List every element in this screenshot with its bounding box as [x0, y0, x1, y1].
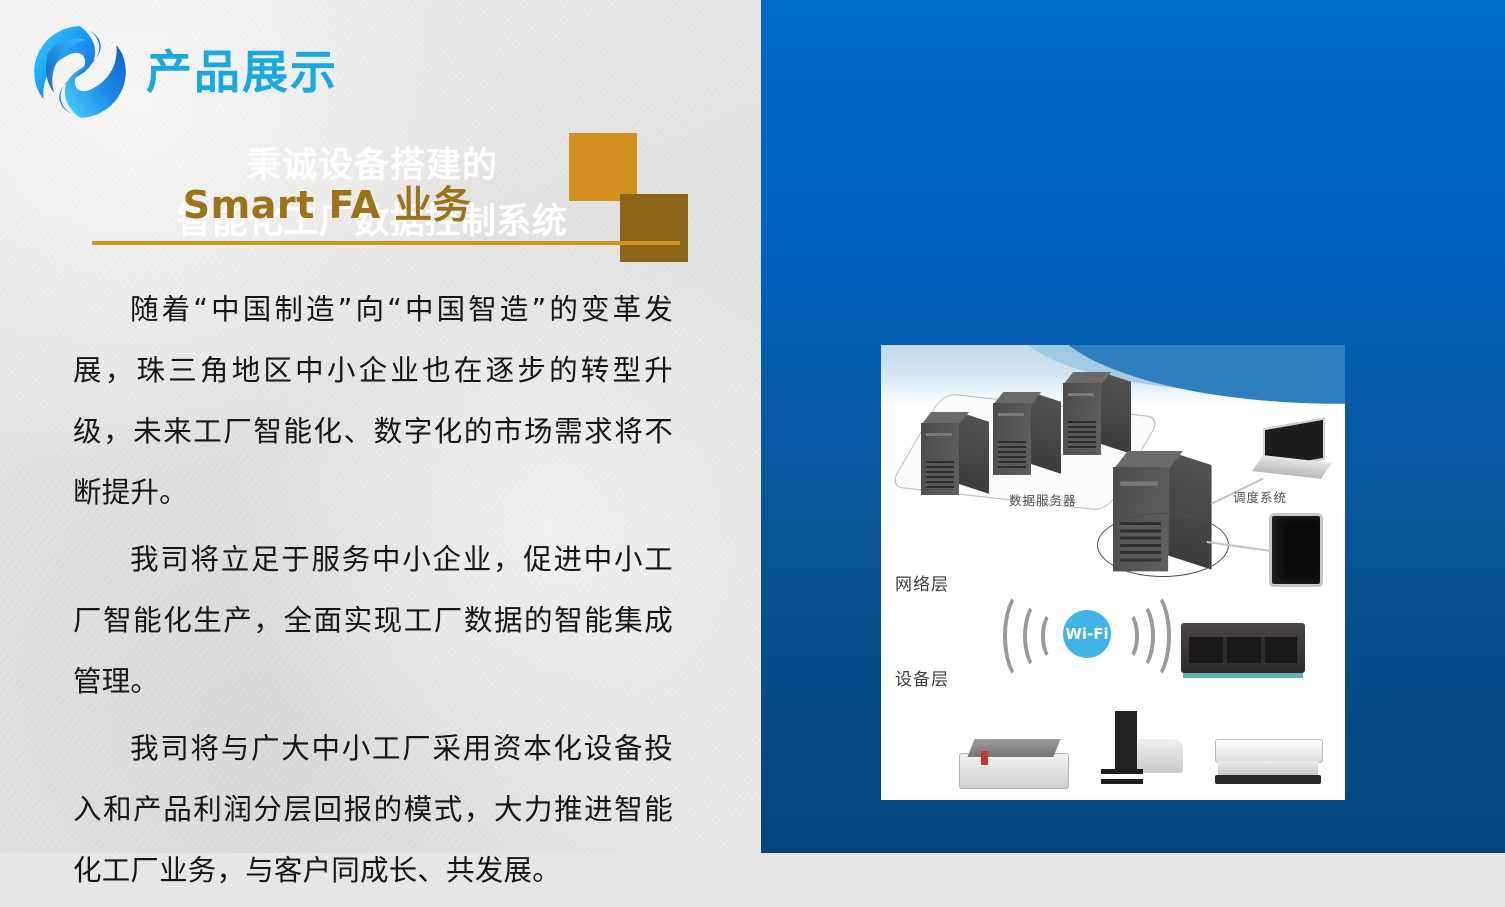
diagram-label-data-server: 数据服务器 — [1009, 490, 1077, 509]
network-switch-icon — [1181, 623, 1305, 673]
wifi-label: Wi-Fi — [1063, 610, 1111, 658]
section-divider — [92, 241, 680, 245]
company-swirl-logo-icon — [28, 20, 132, 124]
wifi-icon: Wi-Fi — [989, 588, 1179, 684]
diagram-label-network-layer: 网络层 — [895, 570, 949, 595]
decoration-square-light — [569, 133, 637, 201]
paragraph-2: 我司将立足于服务中小企业，促进中小工厂智能化生产，全面实现工厂数据的智能集成管理… — [73, 529, 673, 712]
decoration-square-dark — [620, 194, 688, 262]
laptop-icon — [1255, 423, 1329, 483]
diagram-label-device-layer: 设备层 — [895, 665, 949, 690]
paragraph-1: 随着“中国制造”向“中国智造”的变革发展，珠三角地区中小企业也在逐步的转型升级，… — [73, 279, 673, 523]
agv-conveyor-icon — [1215, 739, 1321, 787]
slide-header: 产品展示 — [28, 20, 338, 124]
diagram-label-scheduling-system: 调度系统 — [1233, 487, 1287, 506]
agv-platform-icon — [959, 737, 1067, 789]
body-copy: 随着“中国制造”向“中国智造”的变革发展，珠三角地区中小企业也在逐步的转型升级，… — [73, 279, 673, 907]
agv-forklift-icon — [1093, 711, 1185, 793]
slide: 产品展示 Smart FA 业务 随着“中国制造”向“中国智造”的变革发展，珠三… — [0, 0, 1505, 853]
paragraph-3: 我司将与广大中小工厂采用资本化设备投入和产品利润分层回报的模式，大力推进智能化工… — [73, 718, 673, 901]
tablet-icon — [1269, 513, 1323, 587]
page-title: 产品展示 — [146, 49, 338, 95]
server-highlight-ellipse — [1097, 513, 1229, 577]
section-title-block: Smart FA 业务 — [92, 128, 692, 250]
section-title: Smart FA 业务 — [92, 174, 562, 229]
factory-architecture-diagram: 数据服务器 调度系统 网络层 设备层 Wi-Fi — [881, 345, 1345, 800]
